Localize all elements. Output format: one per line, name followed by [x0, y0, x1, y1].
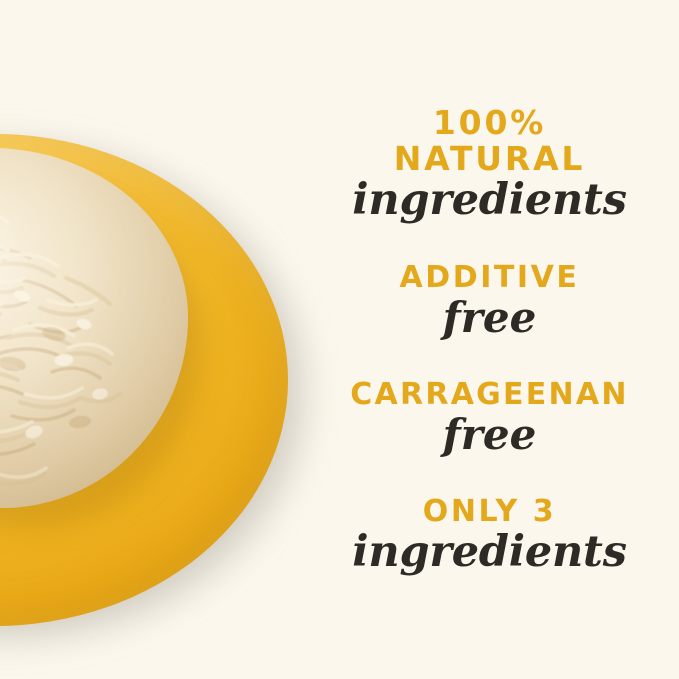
claim-headline-line: NATURAL: [300, 141, 679, 177]
claim-headline-line: ONLY 3: [300, 496, 679, 528]
claim-headline: 100% NATURAL: [300, 105, 679, 176]
shredded-chicken-mound: [0, 132, 224, 552]
claim-subline: free: [300, 414, 679, 456]
claim-carrageenan-free: CARRAGEENAN free: [300, 379, 679, 456]
claim-headline-line: 100%: [300, 105, 679, 141]
claim-headline-line: CARRAGEENAN: [300, 379, 679, 411]
claim-natural-ingredients: 100% NATURAL ingredients: [300, 105, 679, 221]
claim-headline-line: ADDITIVE: [300, 262, 679, 294]
claim-headline: CARRAGEENAN: [300, 379, 679, 411]
claim-subline: ingredients: [300, 531, 679, 574]
product-claims-graphic: 100% NATURAL ingredients ADDITIVE free C…: [0, 0, 679, 679]
claim-headline: ONLY 3: [300, 496, 679, 528]
claim-only-3-ingredients: ONLY 3 ingredients: [300, 496, 679, 573]
claim-additive-free: ADDITIVE free: [300, 262, 679, 339]
claims-list: 100% NATURAL ingredients ADDITIVE free C…: [300, 0, 679, 679]
claim-subline: free: [300, 297, 679, 339]
product-photo: [0, 0, 340, 679]
claim-subline: ingredients: [300, 179, 679, 222]
claim-headline: ADDITIVE: [300, 262, 679, 294]
